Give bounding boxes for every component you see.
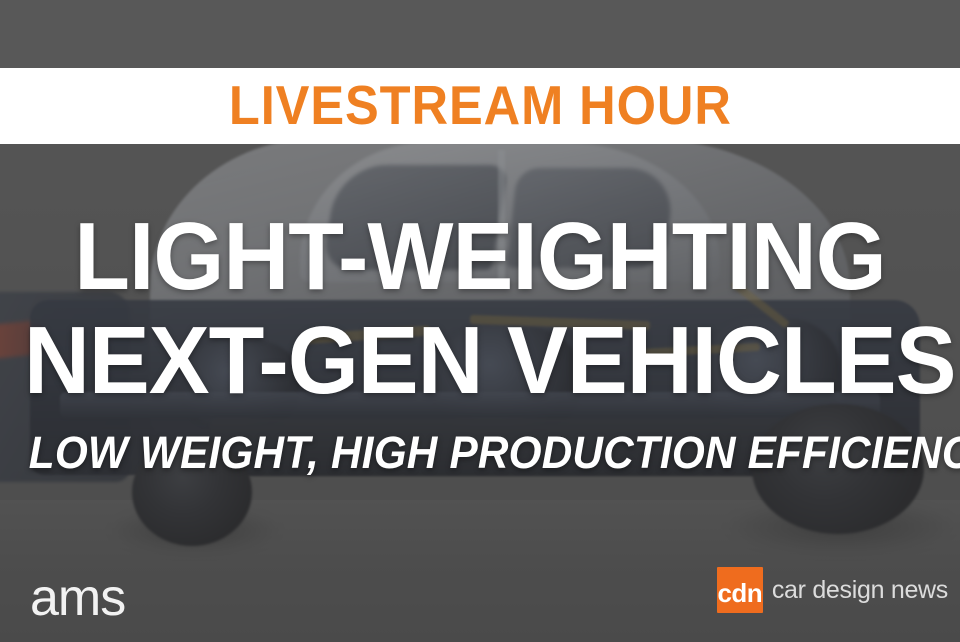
cdn-mark-icon: cdn xyxy=(717,567,763,613)
headline-line-1: LIGHT-WEIGHTING xyxy=(24,205,936,309)
cdn-mark-label: cdn xyxy=(717,580,762,613)
cdn-logo[interactable]: cdn car design news xyxy=(717,567,948,613)
headline-block: LIGHT-WEIGHTING NEXT-GEN VEHICLES xyxy=(0,205,960,413)
kicker-label: LIVESTREAM HOUR xyxy=(229,78,732,133)
top-frame-bar xyxy=(0,0,960,68)
cdn-wordmark: car design news xyxy=(772,578,948,603)
kicker-band: LIVESTREAM HOUR xyxy=(0,68,960,144)
subheadline: LOW WEIGHT, HIGH PRODUCTION EFFICIENCY xyxy=(29,428,931,478)
promo-banner: LIVESTREAM HOUR LIGHT-WEIGHTING NEXT-GEN… xyxy=(0,0,960,642)
ams-logo[interactable]: ams xyxy=(30,572,125,624)
headline-line-2: NEXT-GEN VEHICLES xyxy=(24,309,936,413)
